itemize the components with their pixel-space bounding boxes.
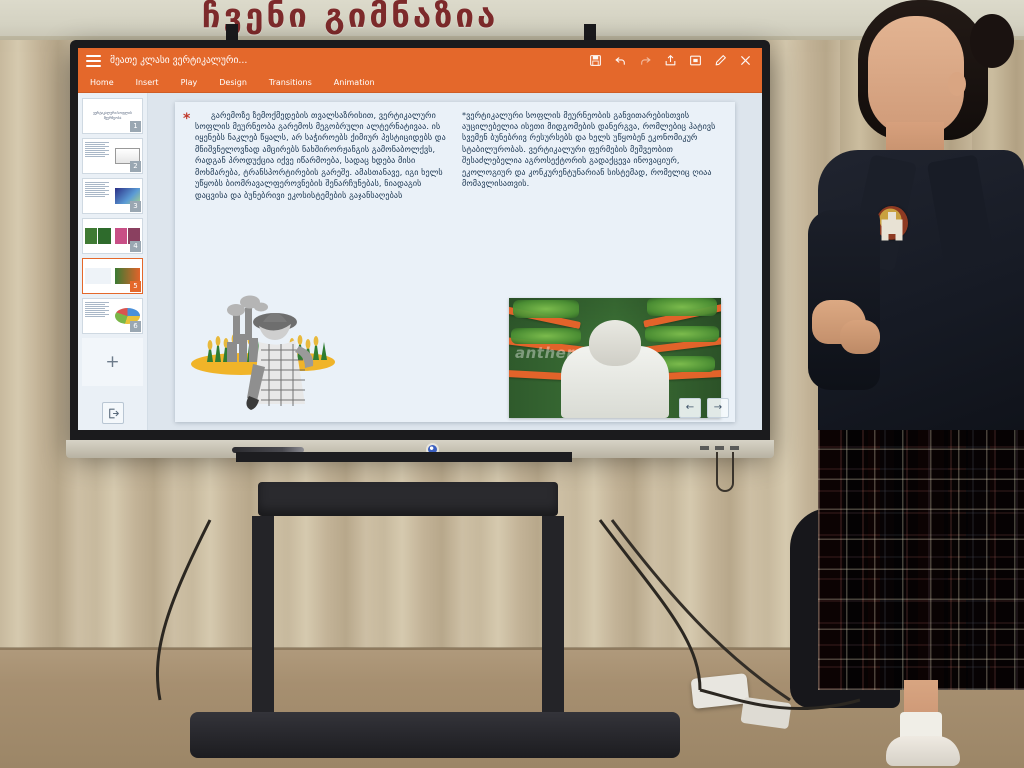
slide-navigation: ← → (679, 398, 729, 418)
farmer-with-field-illustration[interactable] (189, 290, 339, 418)
current-slide[interactable]: * გარემოზე ზემოქმედების თვალსაზრისით, ვე… (175, 102, 735, 422)
pen-icon[interactable] (714, 54, 727, 67)
slide-media-row: antherm (175, 290, 735, 418)
add-slide-button[interactable]: + (82, 338, 143, 386)
slide-number-5: 5 (130, 281, 141, 292)
slide-thumbnail-1[interactable]: ვერტიკალური სოფლის მეურნეობა 1 (82, 98, 143, 134)
stand-vertical-posts (252, 516, 564, 716)
slide-number-3: 3 (130, 201, 141, 212)
interactive-whiteboard: მეათე კლასი ვერტიკალური... (70, 40, 770, 448)
tab-insert[interactable]: Insert (136, 78, 159, 87)
panel-bottom-bar (78, 402, 148, 424)
shoe (886, 736, 960, 766)
ribbon-menubar: Home Insert Play Design Transitions Anim… (78, 73, 762, 93)
prev-slide-button[interactable]: ← (679, 398, 701, 418)
slide-thumbnail-2[interactable]: 2 (82, 138, 143, 174)
thumb-artwork (83, 219, 113, 253)
hairnet (589, 320, 641, 366)
workarea: ვერტიკალური სოფლის მეურნეობა 1 2 3 (78, 93, 762, 430)
tab-design[interactable]: Design (219, 78, 247, 87)
slide-thumbnail-5[interactable]: 5 (82, 258, 143, 294)
titlebar-actions (589, 54, 754, 67)
stand-top-bar (236, 452, 572, 462)
slide-left-column: * გარემოზე ზემოქმედების თვალსაზრისით, ვე… (185, 110, 448, 202)
right-hand (840, 320, 880, 354)
tab-transitions[interactable]: Transitions (269, 78, 312, 87)
hair-bun (970, 14, 1014, 68)
hanging-cable (716, 452, 734, 492)
slide-left-text: გარემოზე ზემოქმედების თვალსაზრისით, ვერტ… (185, 110, 448, 202)
stand-base (190, 712, 680, 758)
hamburger-icon[interactable] (86, 55, 101, 67)
slide-canvas-area[interactable]: * გარემოზე ზემოქმედების თვალსაზრისით, ვე… (148, 93, 762, 430)
next-slide-button[interactable]: → (707, 398, 729, 418)
thumb-artwork (83, 259, 113, 293)
slide-thumbnail-panel[interactable]: ვერტიკალური სოფლის მეურნეობა 1 2 3 (78, 93, 148, 430)
thumb-text-lines (83, 299, 113, 333)
app-titlebar: მეათე კლასი ვერტიკალური... (78, 48, 762, 73)
redo-icon[interactable] (639, 54, 652, 67)
stand-shelf (258, 482, 558, 516)
slide-thumbnail-6[interactable]: 6 (82, 298, 143, 334)
share-icon[interactable] (664, 54, 677, 67)
monitor-ports (700, 446, 739, 450)
slide-right-column: *ვერტიკალური სოფლის მეურნეობის განვითარე… (462, 110, 725, 202)
bullet-marker-icon: * (183, 112, 190, 126)
tab-play[interactable]: Play (181, 78, 198, 87)
export-slide-icon[interactable] (102, 402, 124, 424)
thumb-text-lines (83, 139, 113, 173)
school-crest-emblem (876, 206, 908, 240)
slide-number-2: 2 (130, 161, 141, 172)
presenter-person (800, 0, 1024, 768)
tartan-pattern (818, 430, 1024, 690)
present-icon[interactable] (689, 54, 702, 67)
power-adapter (691, 673, 750, 709)
tab-animation[interactable]: Animation (334, 78, 375, 87)
ear (948, 72, 966, 96)
undo-icon[interactable] (614, 54, 627, 67)
farm-worker-figure (561, 320, 669, 418)
close-icon[interactable] (739, 54, 752, 67)
tab-home[interactable]: Home (90, 78, 114, 87)
slide-thumbnail-3[interactable]: 3 (82, 178, 143, 214)
slide-number-1: 1 (130, 121, 141, 132)
slide-right-text: *ვერტიკალური სოფლის მეურნეობის განვითარე… (462, 110, 725, 190)
slide-number-6: 6 (130, 321, 141, 332)
save-icon[interactable] (589, 54, 602, 67)
screen: მეათე კლასი ვერტიკალური... (78, 48, 762, 430)
slide-text-columns: * გარემოზე ზემოქმედების თვალსაზრისით, ვე… (175, 102, 735, 202)
slide-thumbnail-4[interactable]: 4 (82, 218, 143, 254)
slide-number-4: 4 (130, 241, 141, 252)
document-title: მეათე კლასი ვერტიკალური... (110, 55, 589, 66)
thumb-text-lines (83, 179, 113, 213)
